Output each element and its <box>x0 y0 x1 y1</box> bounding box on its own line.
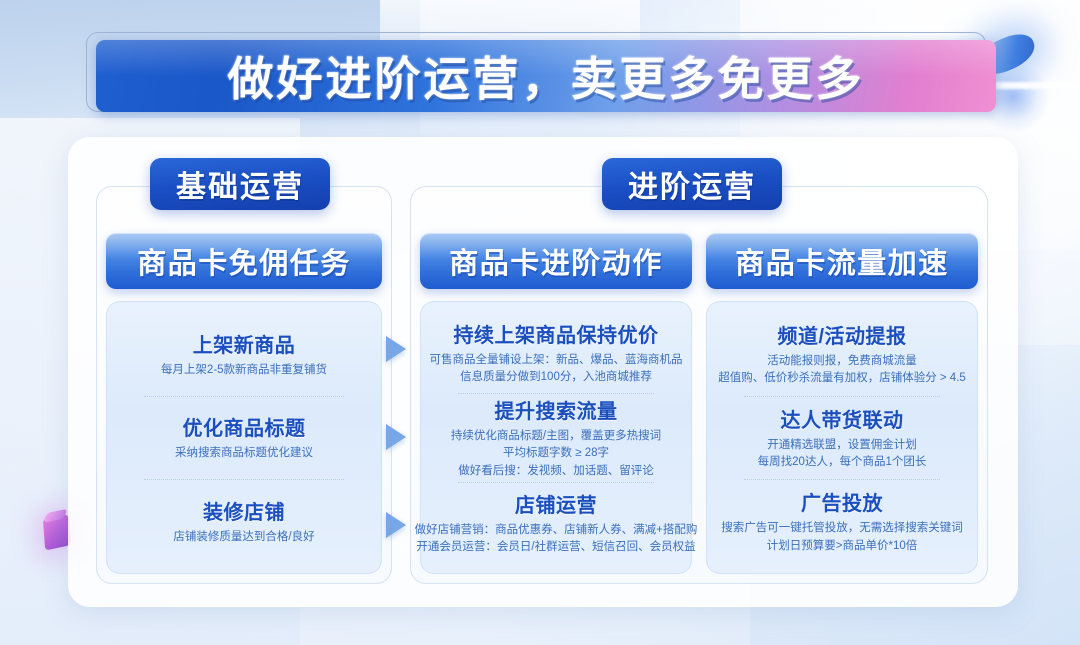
task-detail-line: 做好看后搜：发视频、加话题、留评论 <box>458 463 654 480</box>
purple-cube-icon <box>43 513 71 550</box>
task-detail-line: 店铺装修质量达到合格/良好 <box>173 529 314 546</box>
title-banner-bar: 做好进阶运营，卖更多免更多 <box>96 40 996 112</box>
task-detail-line: 开通精选联盟，设置佣金计划 <box>767 437 917 454</box>
task-block[interactable]: 广告投放 搜索广告可一键托管投放，无需选择搜索关键词 计划日预算要>商品单价*1… <box>719 479 965 563</box>
task-detail-line: 做好店铺营销：商品优惠券、店铺新人券、满减+搭配购 <box>415 522 698 539</box>
task-block[interactable]: 店铺运营 做好店铺营销：商品优惠券、店铺新人券、满减+搭配购 开通会员运营：会员… <box>433 482 679 563</box>
task-title: 广告投放 <box>801 487 883 516</box>
poster-canvas: 做好进阶运营，卖更多免更多 基础运营 进阶运营 商品卡免佣任务 商品卡进阶动作 … <box>0 0 1080 645</box>
task-block[interactable]: 持续上架商品保持优价 可售商品全量铺设上架：新品、爆品、蓝海商机品 信息质量分做… <box>433 312 679 393</box>
task-title: 提升搜索流量 <box>495 395 618 424</box>
task-title: 店铺运营 <box>515 489 597 518</box>
task-detail-line: 搜索广告可一键托管投放，无需选择搜索关键词 <box>721 520 963 537</box>
block-list-1: 上架新商品 每月上架2-5款新商品非重复铺货 优化商品标题 采纳搜索商品标题优化… <box>119 312 369 563</box>
task-title: 上架新商品 <box>193 329 296 358</box>
block-list-3: 频道/活动提报 活动能报则报，免费商城流量 超值购、低价秒杀流量有加权，店铺体验… <box>719 312 965 563</box>
task-detail-line: 信息质量分做到100分，入池商城推荐 <box>460 369 652 386</box>
column-header-label-1: 商品卡免佣任务 <box>137 240 351 282</box>
flow-arrow-icon <box>386 512 406 538</box>
column-header-label-3: 商品卡流量加速 <box>735 240 949 282</box>
task-block[interactable]: 提升搜索流量 持续优化商品标题/主图，覆盖更多热搜词 平均标题字数 ≥ 28字 … <box>433 393 679 482</box>
task-block[interactable]: 频道/活动提报 活动能报则报，免费商城流量 超值购、低价秒杀流量有加权，店铺体验… <box>719 312 965 396</box>
task-detail-line: 开通会员运营：会员日/社群运营、短信召回、会员权益 <box>416 539 695 556</box>
task-block[interactable]: 优化商品标题 采纳搜索商品标题优化建议 <box>119 396 369 480</box>
flow-arrow-icon <box>386 424 406 450</box>
content-card-commission-free: 上架新商品 每月上架2-5款新商品非重复铺货 优化商品标题 采纳搜索商品标题优化… <box>106 301 382 574</box>
task-detail-line: 计划日预算要>商品单价*10倍 <box>767 538 917 555</box>
section-pill-advanced[interactable]: 进阶运营 <box>602 158 782 210</box>
task-detail-line: 活动能报则报，免费商城流量 <box>767 353 917 370</box>
column-header-commission-free[interactable]: 商品卡免佣任务 <box>106 233 382 289</box>
task-block[interactable]: 上架新商品 每月上架2-5款新商品非重复铺货 <box>119 312 369 396</box>
task-detail-line: 每周找20达人，每个商品1个团长 <box>758 454 927 471</box>
task-detail-line: 每月上架2-5款新商品非重复铺货 <box>161 362 327 379</box>
column-header-advanced-actions[interactable]: 商品卡进阶动作 <box>420 233 692 289</box>
task-detail-line: 平均标题字数 ≥ 28字 <box>503 445 609 462</box>
section-pill-advanced-label: 进阶运营 <box>628 162 756 206</box>
task-block[interactable]: 达人带货联动 开通精选联盟，设置佣金计划 每周找20达人，每个商品1个团长 <box>719 396 965 480</box>
task-detail-line: 超值购、低价秒杀流量有加权，店铺体验分 > 4.5 <box>718 370 966 387</box>
content-card-advanced-actions: 持续上架商品保持优价 可售商品全量铺设上架：新品、爆品、蓝海商机品 信息质量分做… <box>420 301 692 574</box>
column-header-label-2: 商品卡进阶动作 <box>449 240 663 282</box>
column-header-traffic-boost[interactable]: 商品卡流量加速 <box>706 233 978 289</box>
task-title: 优化商品标题 <box>183 412 306 441</box>
title-banner: 做好进阶运营，卖更多免更多 <box>96 40 996 112</box>
flow-arrow-icon <box>386 336 406 362</box>
block-list-2: 持续上架商品保持优价 可售商品全量铺设上架：新品、爆品、蓝海商机品 信息质量分做… <box>433 312 679 563</box>
section-pill-basic[interactable]: 基础运营 <box>150 158 330 210</box>
task-title: 持续上架商品保持优价 <box>454 319 659 348</box>
task-detail-line: 可售商品全量铺设上架：新品、爆品、蓝海商机品 <box>430 352 683 369</box>
content-card-traffic-boost: 频道/活动提报 活动能报则报，免费商城流量 超值购、低价秒杀流量有加权，店铺体验… <box>706 301 978 574</box>
section-pill-basic-label: 基础运营 <box>176 162 304 206</box>
task-detail-line: 采纳搜索商品标题优化建议 <box>175 445 313 462</box>
task-title: 装修店铺 <box>203 496 285 525</box>
task-title: 达人带货联动 <box>781 404 904 433</box>
task-detail-line: 持续优化商品标题/主图，覆盖更多热搜词 <box>451 428 661 445</box>
task-block[interactable]: 装修店铺 店铺装修质量达到合格/良好 <box>119 479 369 563</box>
page-title: 做好进阶运营，卖更多免更多 <box>228 43 865 109</box>
task-title: 频道/活动提报 <box>777 320 906 349</box>
